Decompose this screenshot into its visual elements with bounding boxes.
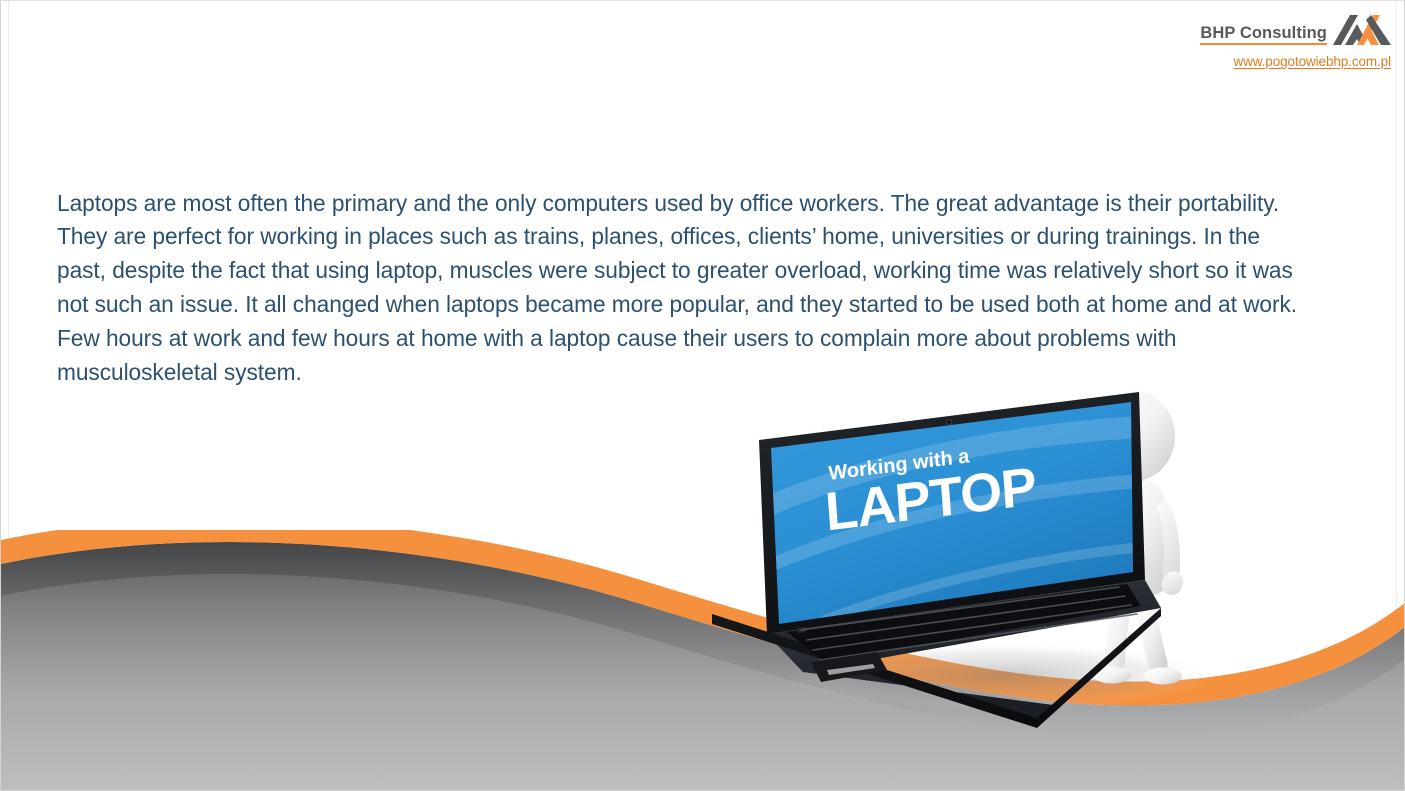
- brand-logo-row: BHP Consulting: [1200, 15, 1391, 45]
- brand-logo-block[interactable]: BHP Consulting www.pogotowiebhp.com.pl: [1200, 15, 1391, 69]
- double-chevron-mountain-icon: [1333, 15, 1391, 45]
- brand-website-url[interactable]: www.pogotowiebhp.com.pl: [1200, 55, 1391, 69]
- slide-frame-left-rule: [8, 1, 9, 790]
- brand-wordmark: BHP Consulting: [1200, 25, 1327, 46]
- slide-frame-right-rule: [1396, 1, 1397, 790]
- slide-body-paragraph: Laptops are most often the primary and t…: [57, 187, 1310, 390]
- laptop-illustration: Working with a LAPTOP: [701, 376, 1241, 736]
- presentation-slide: BHP Consulting www.pogotowiebhp.com.pl L…: [0, 0, 1405, 791]
